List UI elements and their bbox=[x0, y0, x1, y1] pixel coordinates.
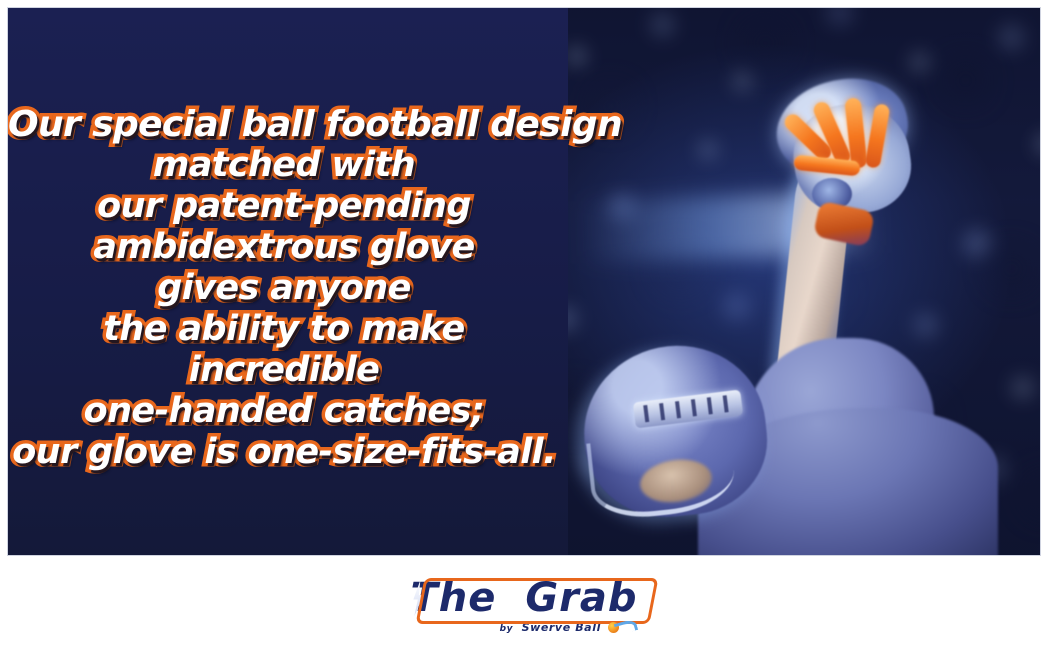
product-banner: Our special ball football design matched… bbox=[8, 8, 1040, 555]
brand-logo: The Grab by Swerve Ball bbox=[0, 576, 1048, 634]
headline-line: ambidextrous glove bbox=[8, 227, 560, 268]
headline-line: our patent-pending bbox=[8, 186, 560, 227]
page-root: Our special ball football design matched… bbox=[0, 0, 1048, 650]
swerve-ball-icon bbox=[608, 621, 634, 633]
headline-block: Our special ball football design matched… bbox=[8, 104, 560, 473]
logo-wordmark: The Grab bbox=[404, 576, 643, 620]
logo-subtitle: by Swerve Ball bbox=[0, 621, 1048, 634]
headline-line: incredible bbox=[8, 350, 560, 391]
copy-panel: Our special ball football design matched… bbox=[8, 8, 568, 555]
headline-line: our glove is one-size-fits-all. bbox=[8, 432, 560, 473]
logo-by-label: by bbox=[500, 624, 514, 634]
headline-line: matched with bbox=[8, 145, 560, 186]
headline-line: one-handed catches; bbox=[8, 391, 560, 432]
logo-brand-name: Swerve Ball bbox=[522, 621, 601, 634]
athlete-photo bbox=[548, 8, 1040, 555]
headline-line: the ability to make bbox=[8, 309, 560, 350]
headline-line: gives anyone bbox=[8, 268, 560, 309]
headline-line: Our special ball football design bbox=[8, 104, 560, 145]
logo-word-grab: Grab bbox=[525, 575, 637, 621]
logo-word-the: The bbox=[410, 575, 496, 621]
athlete-figure bbox=[548, 8, 1040, 555]
